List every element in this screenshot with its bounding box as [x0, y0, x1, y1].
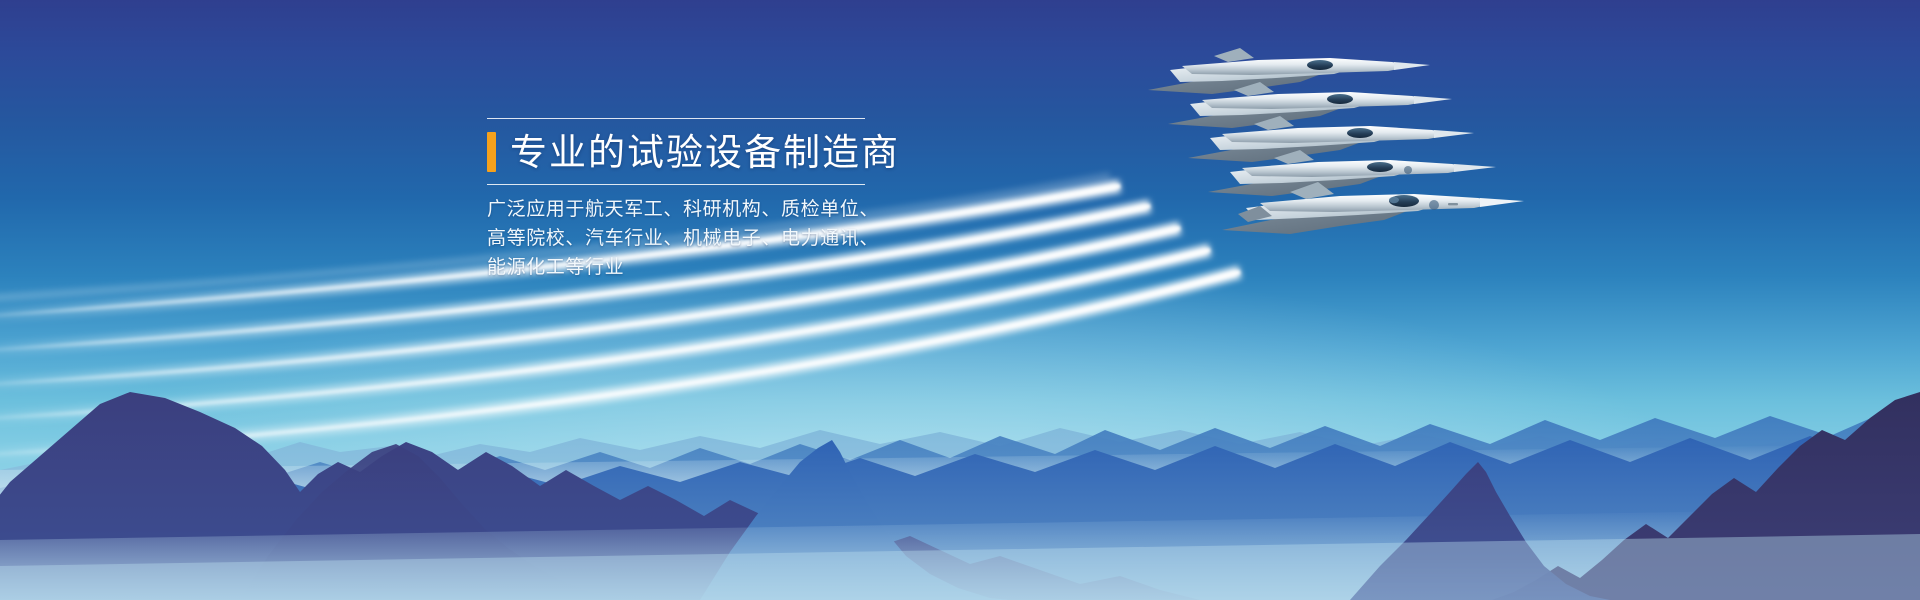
- subtitle-line-3: 能源化工等行业: [487, 254, 1187, 283]
- subtitle-line-2: 高等院校、汽车行业、机械电子、电力通讯、: [487, 225, 1187, 254]
- subtitle-block: 广泛应用于航天军工、科研机构、质检单位、 高等院校、汽车行业、机械电子、电力通讯…: [487, 196, 1187, 283]
- hero-banner: 专业的试验设备制造商 广泛应用于航天军工、科研机构、质检单位、 高等院校、汽车行…: [0, 0, 1920, 600]
- page-title: 专业的试验设备制造商: [510, 134, 900, 171]
- banner-copy: 专业的试验设备制造商 广泛应用于航天军工、科研机构、质检单位、 高等院校、汽车行…: [487, 118, 1187, 283]
- jet-5: [1148, 48, 1430, 94]
- divider-bottom: [487, 184, 865, 185]
- subtitle-line-1: 广泛应用于航天军工、科研机构、质检单位、: [487, 196, 1187, 225]
- mountain-range: [0, 0, 1920, 600]
- accent-bar: [487, 132, 496, 172]
- headline-row: 专业的试验设备制造商: [487, 132, 1187, 172]
- divider-top: [487, 118, 865, 119]
